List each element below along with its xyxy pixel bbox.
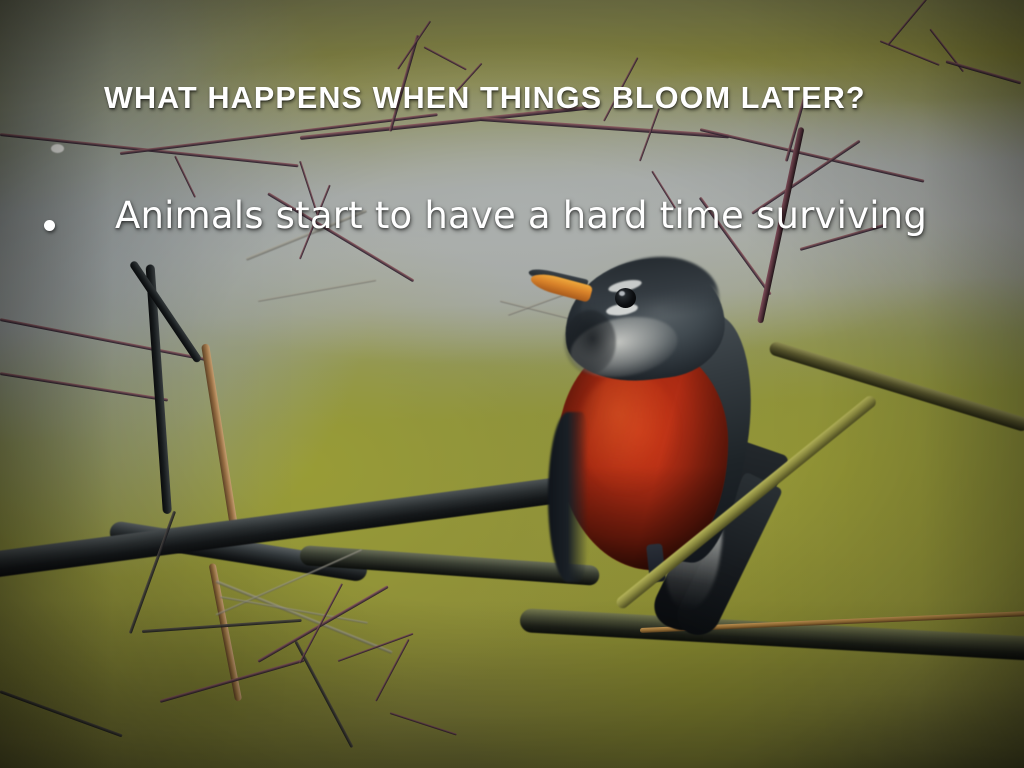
slide-title: WHAT HAPPENS WHEN THINGS BLOOM LATER? <box>104 80 866 116</box>
bullet-list-item: Animals start to have a hard time surviv… <box>44 196 927 237</box>
slide: WHAT HAPPENS WHEN THINGS BLOOM LATER? An… <box>0 0 1024 768</box>
bullet-text: Animals start to have a hard time surviv… <box>115 196 927 237</box>
bullet-marker-icon <box>44 220 55 231</box>
